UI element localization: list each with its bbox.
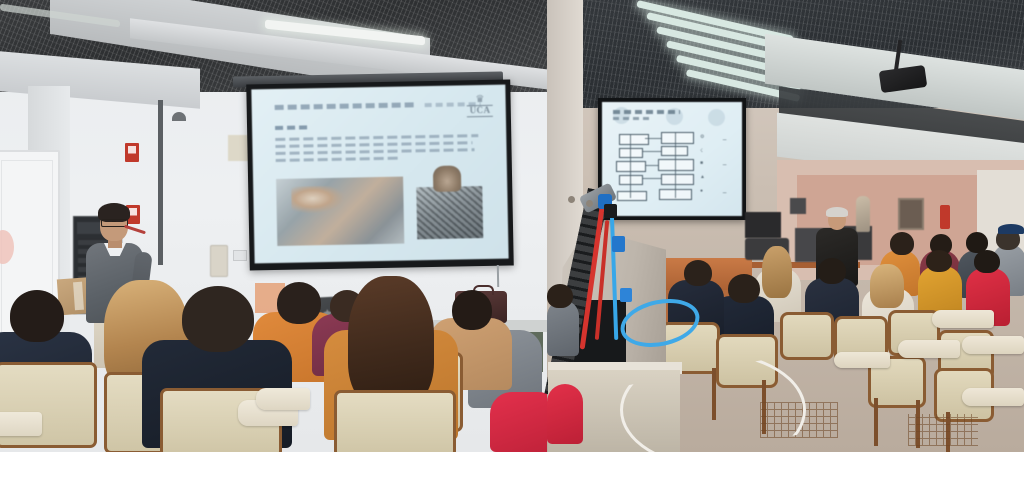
chair-leg xyxy=(874,398,878,446)
emergency-exit-sign-icon xyxy=(125,143,139,162)
wall-phone-icon xyxy=(210,245,228,277)
slide-photo-workshop xyxy=(276,177,404,246)
attendee-head xyxy=(818,258,846,284)
projection-screen-frame: ♛ UCA xyxy=(246,79,514,270)
valve-module-icon xyxy=(612,236,625,252)
uca-logo: ♛ UCA xyxy=(467,94,493,120)
attendee-head-7 xyxy=(452,290,492,330)
chair-writing-tablet xyxy=(962,336,1024,354)
right-projection-screen-surface: ⚙ ☇ ■ ▲ ● ⚊ ⚊ ⚊ xyxy=(602,102,742,216)
photo-composite-canvas: ♛ UCA xyxy=(0,0,1024,478)
attendee-ponytail-hair xyxy=(762,246,792,298)
right-slide-subtitle-line xyxy=(613,117,649,120)
attendee-red-jacket xyxy=(490,392,547,452)
attendee-head-3 xyxy=(182,286,254,352)
screen-guide-strip xyxy=(158,100,163,265)
left-photo-panel: ♛ UCA xyxy=(0,0,547,452)
ceiling-speaker-icon xyxy=(172,112,186,121)
attendee-edge-red xyxy=(547,384,583,444)
machine-bolt xyxy=(586,200,593,207)
baseball-cap-icon xyxy=(998,224,1024,234)
chair-writing-tablet xyxy=(962,388,1024,406)
chair-writing-tablet xyxy=(0,412,42,436)
attendee-edge-grey xyxy=(547,300,579,356)
machine-bolt xyxy=(568,196,575,203)
attendee-head xyxy=(728,274,760,303)
attendee-head xyxy=(974,250,1000,273)
attendee-brown-hair xyxy=(348,276,434,408)
slide-bubble xyxy=(708,109,725,126)
slide-photo-structure xyxy=(416,186,483,239)
slide-photo-component xyxy=(433,165,461,192)
wall-sign xyxy=(790,198,806,214)
attendee-head xyxy=(926,250,952,272)
right-projection-screen-frame: ⚙ ☇ ■ ▲ ● ⚊ ⚊ ⚊ xyxy=(598,98,746,220)
attendee-head-4 xyxy=(277,282,321,324)
screen-cable xyxy=(497,265,499,287)
chair-wire-rack xyxy=(908,414,978,446)
uca-logo-text: UCA xyxy=(467,105,493,117)
chair xyxy=(334,390,456,452)
power-socket-icon xyxy=(233,250,247,261)
chair-writing-tablet xyxy=(898,340,960,358)
attendee-head-1 xyxy=(10,290,64,342)
small-statue xyxy=(856,196,870,232)
attendee-blonde-hair xyxy=(870,264,904,308)
chair-writing-tablet xyxy=(834,352,890,368)
paper-sheet xyxy=(256,388,310,410)
projection-screen-surface: ♛ UCA xyxy=(251,85,508,264)
sensor-block-icon xyxy=(604,204,617,218)
chair xyxy=(780,312,834,360)
attendee-head xyxy=(684,260,712,286)
chair-writing-tablet xyxy=(932,310,994,328)
attendee-head xyxy=(547,284,573,308)
slide-title-line xyxy=(274,102,414,110)
slide-section-heading xyxy=(275,125,308,130)
attendee-head xyxy=(890,232,914,255)
bottom-white-border xyxy=(0,452,1024,478)
framed-picture xyxy=(898,198,924,230)
right-presenter-hair xyxy=(826,207,848,217)
right-slide-title-line xyxy=(613,110,680,114)
slide-body-text xyxy=(275,134,479,166)
valve-module-icon xyxy=(620,288,632,302)
fire-extinguisher-icon xyxy=(940,205,950,229)
audio-equipment xyxy=(745,212,781,238)
crest-icon: ♛ xyxy=(467,94,493,105)
